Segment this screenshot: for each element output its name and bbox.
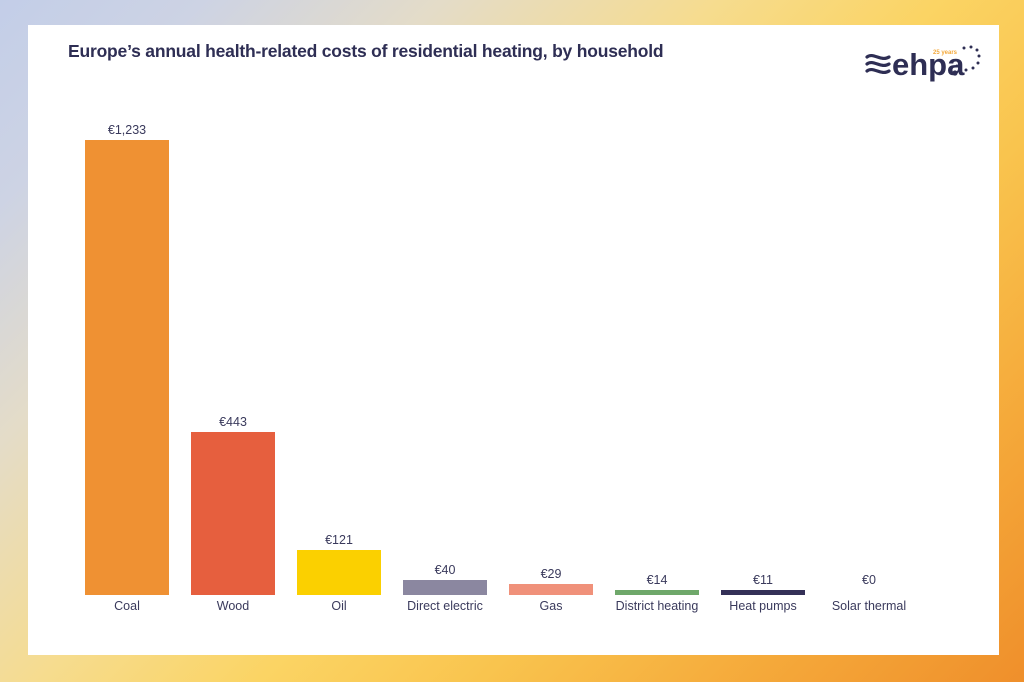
bar-value-label: €1,233	[108, 123, 146, 137]
bar-value-label: €29	[541, 567, 562, 581]
bar-value-label: €0	[862, 573, 876, 587]
bar-rect[interactable]	[85, 140, 169, 595]
bar-group[interactable]: €40Direct electric	[403, 580, 487, 595]
bar-category-label: District heating	[616, 599, 699, 613]
bar-category-label: Gas	[540, 599, 563, 613]
bar-group[interactable]: €11Heat pumps	[721, 590, 805, 595]
bar-group[interactable]: €0Solar thermal	[827, 590, 911, 595]
bar-group[interactable]: €14District heating	[615, 590, 699, 595]
bar-rect[interactable]	[721, 590, 805, 595]
bar-group[interactable]: €121Oil	[297, 550, 381, 595]
bar-category-label: Heat pumps	[729, 599, 796, 613]
bar-category-label: Wood	[217, 599, 249, 613]
bar-rect[interactable]	[297, 550, 381, 595]
chart-card: Europe’s annual health-related costs of …	[28, 25, 999, 655]
ehpa-logo: ehpa 25 years	[865, 39, 981, 87]
bar-rect[interactable]	[191, 432, 275, 595]
svg-text:25 years: 25 years	[933, 50, 958, 56]
waves-icon	[867, 56, 889, 73]
bar-value-label: €14	[647, 573, 668, 587]
page-title: Europe’s annual health-related costs of …	[68, 41, 663, 62]
bar-group[interactable]: €1,233Coal	[85, 140, 169, 595]
bar-category-label: Coal	[114, 599, 140, 613]
bar-chart-plot-area: €1,233Coal€443Wood€121Oil€40Direct elect…	[75, 90, 975, 635]
bar-rect[interactable]	[403, 580, 487, 595]
bar-value-label: €40	[435, 563, 456, 577]
bar-group[interactable]: €443Wood	[191, 432, 275, 595]
bar-value-label: €121	[325, 533, 353, 547]
bar-rect[interactable]	[509, 584, 593, 595]
bar-group[interactable]: €29Gas	[509, 584, 593, 595]
bar-category-label: Direct electric	[407, 599, 483, 613]
bar-value-label: €11	[753, 573, 773, 587]
bar-category-label: Oil	[331, 599, 346, 613]
bar-category-label: Solar thermal	[832, 599, 906, 613]
bar-rect[interactable]	[615, 590, 699, 595]
bar-value-label: €443	[219, 415, 247, 429]
